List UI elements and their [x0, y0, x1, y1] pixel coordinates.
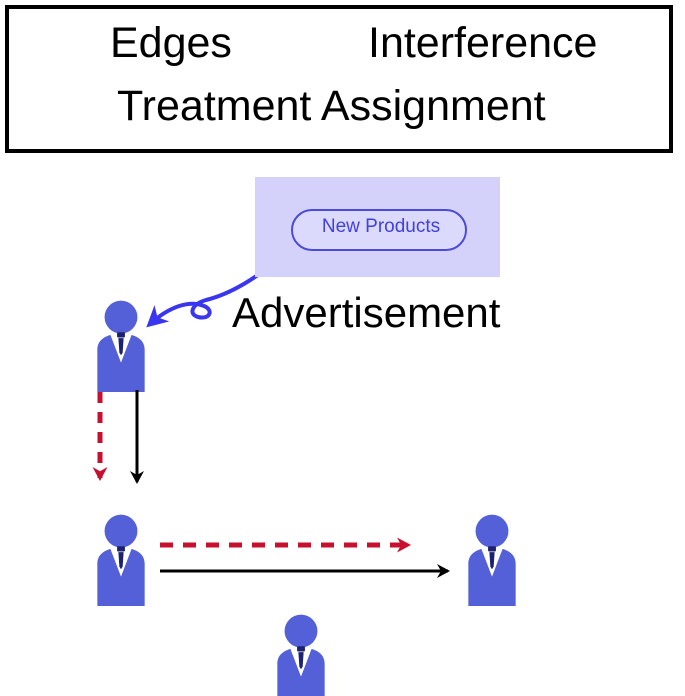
new-products-label: New Products	[293, 217, 469, 236]
advertisement-label: Advertisement	[232, 292, 500, 334]
new-products-pill: New Products	[291, 209, 467, 251]
node-person-3	[468, 515, 515, 606]
node-person-2	[97, 515, 144, 606]
advertisement-panel: New Products	[255, 177, 500, 277]
node-person-1	[97, 301, 144, 392]
legend-label-treatment: Treatment Assignment	[117, 85, 546, 128]
node-person-4	[277, 615, 324, 696]
legend-label-edges: Edges	[110, 22, 232, 65]
legend-label-interference: Interference	[368, 22, 597, 65]
